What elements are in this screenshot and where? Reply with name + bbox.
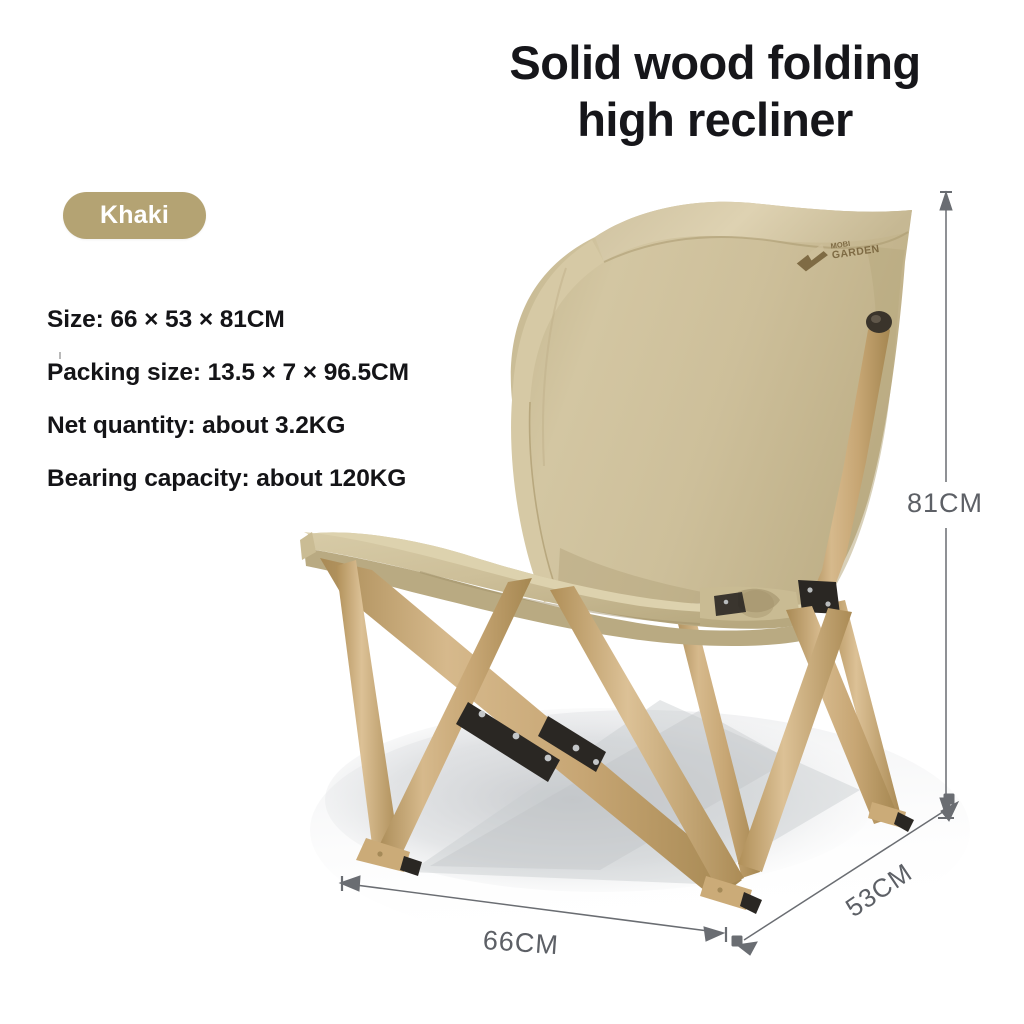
backrest-support-pole bbox=[806, 311, 892, 610]
title-line-1: Solid wood folding bbox=[430, 34, 1000, 91]
spec-packing: Packing size: 13.5 × 7 × 96.5CM bbox=[47, 359, 517, 387]
chair-front-legs bbox=[320, 558, 898, 900]
color-badge-khaki[interactable]: Khaki bbox=[63, 192, 206, 239]
color-badge-label: Khaki bbox=[100, 201, 169, 230]
brand-logo-icon: MOBI GARDEN bbox=[794, 235, 881, 272]
dimension-label-width: 66CM bbox=[482, 925, 560, 961]
spec-capacity: Bearing capacity: about 120KG bbox=[47, 465, 517, 493]
center-cross-bracket bbox=[456, 702, 606, 782]
chair-feet bbox=[356, 802, 914, 914]
seat-front-roll bbox=[700, 587, 800, 621]
spec-weight: Net quantity: about 3.2KG bbox=[47, 412, 517, 440]
page-title: Solid wood folding high recliner bbox=[430, 34, 1000, 149]
seat-metal-bracket bbox=[714, 580, 840, 616]
chair-seat-fabric bbox=[300, 532, 815, 646]
spec-size: Size: 66 × 53 × 81CM bbox=[47, 306, 517, 334]
spec-list: Size: 66 × 53 × 81CM Packing size: 13.5 … bbox=[47, 306, 517, 518]
dimension-label-height: 81CM bbox=[907, 488, 983, 519]
dimension-label-depth: 53CM bbox=[840, 857, 918, 924]
chair-backrest-fabric bbox=[511, 202, 912, 620]
title-line-2: high recliner bbox=[430, 91, 1000, 148]
product-spec-image: MOBI GARDEN bbox=[0, 0, 1024, 1024]
logo-text-top: MOBI bbox=[830, 239, 851, 251]
logo-text-bottom: GARDEN bbox=[831, 243, 880, 262]
chair-rear-legs bbox=[672, 596, 900, 878]
